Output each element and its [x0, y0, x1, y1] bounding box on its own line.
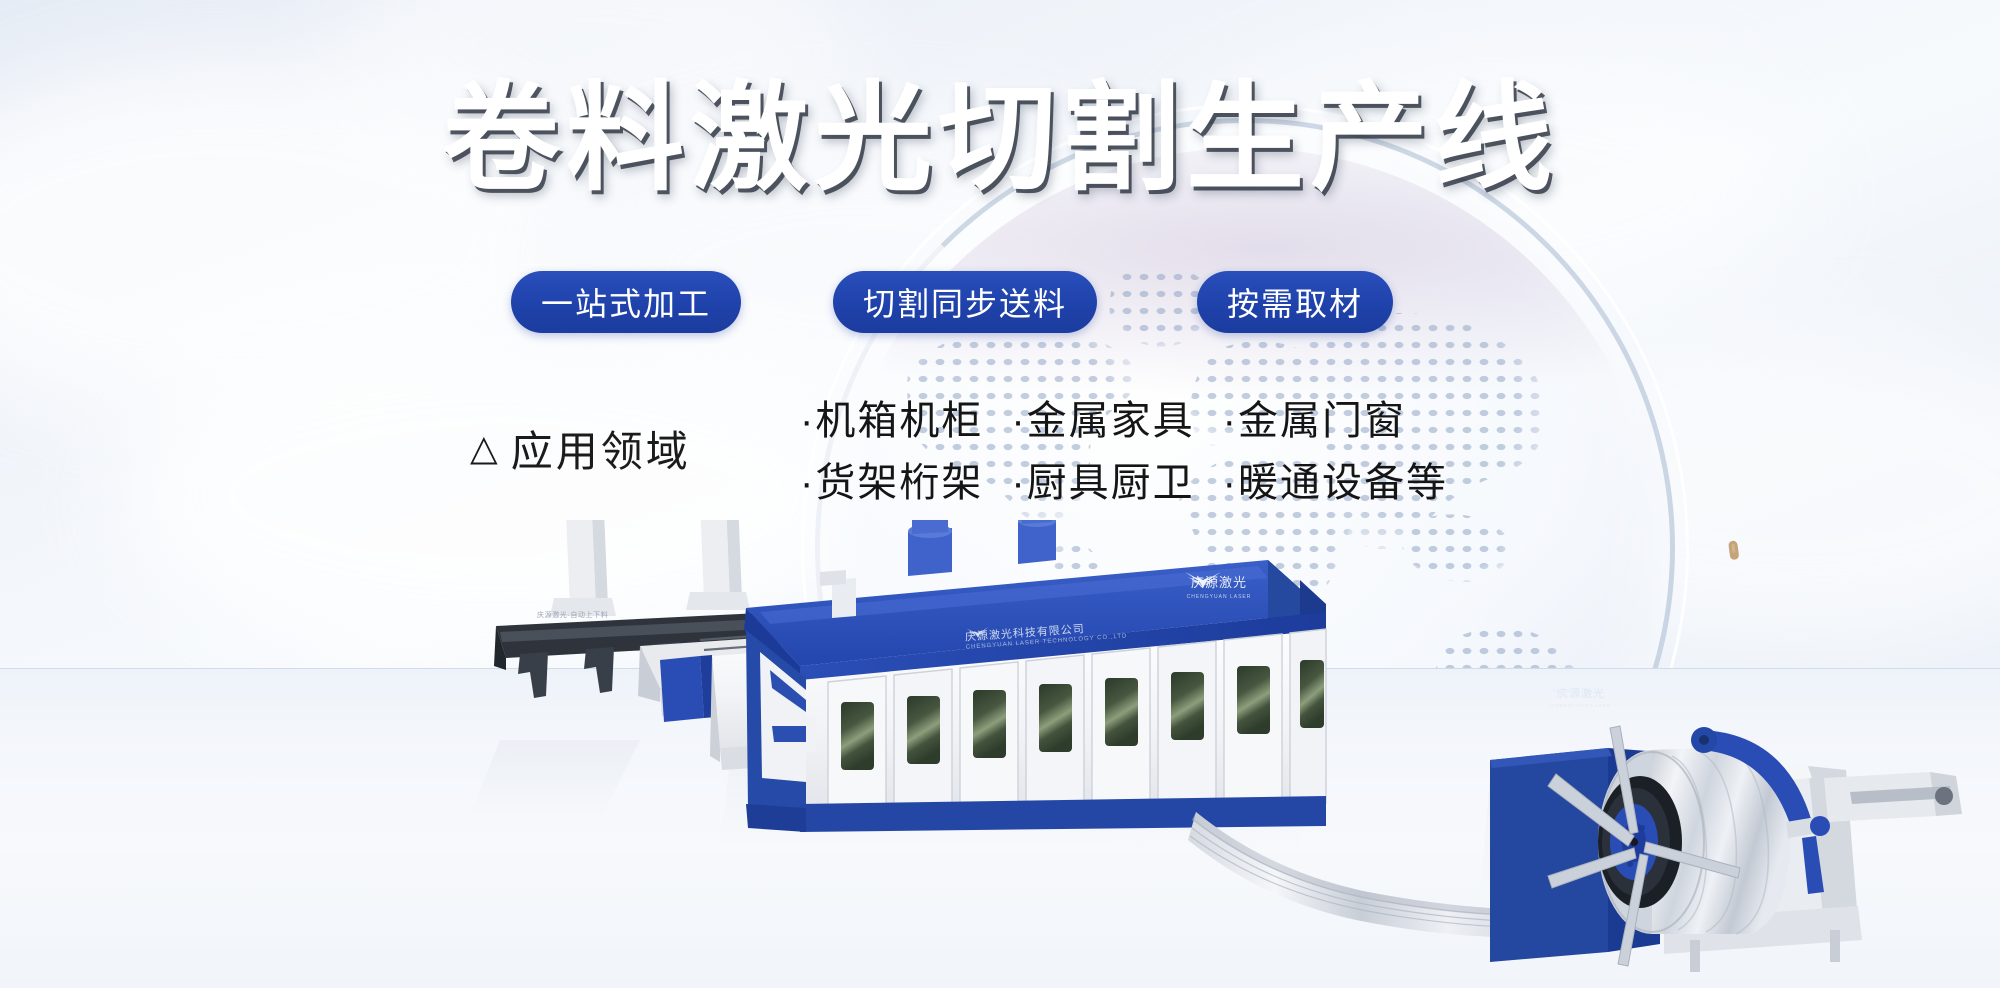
application-item: ·暖通设备等	[1223, 449, 1448, 509]
application-item: ·厨具厨卫	[1011, 449, 1194, 509]
laser-enclosure	[744, 520, 1326, 832]
application-item: ·金属家具	[1011, 387, 1194, 447]
banner-stage: 庆源激光科技有限公司 CHENGYUAN LASER TECHNOLOGY CO…	[0, 0, 2000, 988]
pill-synchronous-feeding[interactable]: 切割同步送料	[833, 271, 1097, 333]
application-fields-label-text: 应用领域	[511, 418, 691, 479]
application-fields-block: △ 应用领域 ·机箱机柜 ·金属家具 ·金属门窗 ·货架桁架 ·厨具厨卫 ·暖通…	[470, 388, 1550, 508]
application-items-grid: ·机箱机柜 ·金属家具 ·金属门窗 ·货架桁架 ·厨具厨卫 ·暖通设备等	[800, 387, 1448, 509]
page-title: 卷料激光切割生产线	[0, 78, 2000, 201]
application-item: ·货架桁架	[800, 449, 983, 509]
loader-label: 庆源激光·自动上下料	[537, 610, 608, 620]
machine-side-logo: 庆源激光 CHENGYUAN LASER	[1183, 572, 1255, 600]
application-item: ·金属门窗	[1223, 387, 1448, 447]
application-item: ·机箱机柜	[800, 387, 983, 447]
application-fields-label: △ 应用领域	[470, 418, 800, 479]
exhaust-ducts	[908, 520, 1056, 576]
pill-one-stop-processing[interactable]: 一站式加工	[511, 271, 741, 333]
brand-name-en: CHENGYUAN LASER	[1545, 703, 1617, 708]
triangle-icon: △	[470, 430, 501, 466]
pill-material-on-demand[interactable]: 按需取材	[1197, 271, 1393, 333]
cabinet-logo: 庆源激光 CHENGYUAN LASER	[1545, 684, 1617, 708]
feature-pill-group: 一站式加工 切割同步送料 按需取材	[505, 270, 1505, 334]
machine-illustration: 庆源激光科技有限公司 CHENGYUAN LASER TECHNOLOGY CO…	[0, 520, 2000, 988]
brand-name-en: CHENGYUAN LASER	[1183, 594, 1255, 600]
